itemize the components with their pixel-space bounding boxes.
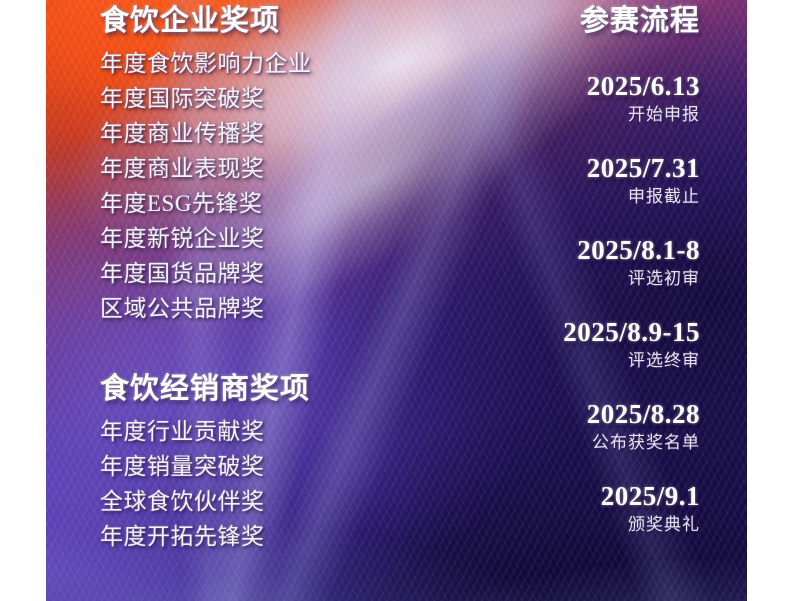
list-item: 年度新锐企业奖: [100, 221, 360, 256]
awards-column: 食饮企业奖项 年度食饮影响力企业 年度国际突破奖 年度商业传播奖 年度商业表现奖…: [100, 0, 360, 554]
timeline-label: 评选初审: [430, 266, 700, 292]
award-list-distributor: 年度行业贡献奖 年度销量突破奖 全球食饮伙伴奖 年度开拓先锋奖: [100, 414, 360, 554]
timeline-label: 评选终审: [430, 348, 700, 374]
timeline-date: 2025/8.1-8: [430, 234, 700, 266]
list-item: 年度国货品牌奖: [100, 256, 360, 291]
list-item: 年度食饮影响力企业: [100, 46, 360, 81]
list-item: 年度国际突破奖: [100, 81, 360, 116]
timeline-date: 2025/6.13: [430, 70, 700, 102]
list-item: 年度行业贡献奖: [100, 414, 360, 449]
timeline-label: 申报截止: [430, 184, 700, 210]
timeline-entry: 2025/9.1 颁奖典礼: [430, 480, 700, 538]
timeline-label: 公布获奖名单: [430, 430, 700, 456]
timeline-entry: 2025/8.28 公布获奖名单: [430, 398, 700, 456]
process-column: 参赛流程 2025/6.13 开始申报 2025/7.31 申报截止 2025/…: [430, 0, 700, 562]
timeline-date: 2025/9.1: [430, 480, 700, 512]
process-timeline: 2025/6.13 开始申报 2025/7.31 申报截止 2025/8.1-8…: [430, 70, 700, 538]
list-item: 年度商业表现奖: [100, 151, 360, 186]
section-heading-enterprise-awards: 食饮企业奖项: [100, 6, 360, 38]
award-list-enterprise: 年度食饮影响力企业 年度国际突破奖 年度商业传播奖 年度商业表现奖 年度ESG先…: [100, 46, 360, 326]
timeline-label: 颁奖典礼: [430, 512, 700, 538]
list-item: 年度开拓先锋奖: [100, 519, 360, 554]
timeline-label: 开始申报: [430, 102, 700, 128]
timeline-date: 2025/8.9-15: [430, 316, 700, 348]
section-heading-distributor-awards: 食饮经销商奖项: [100, 374, 360, 406]
timeline-entry: 2025/8.9-15 评选终审: [430, 316, 700, 374]
timeline-entry: 2025/6.13 开始申报: [430, 70, 700, 128]
list-item: 年度销量突破奖: [100, 449, 360, 484]
list-item: 年度ESG先锋奖: [100, 186, 360, 221]
timeline-date: 2025/7.31: [430, 152, 700, 184]
timeline-entry: 2025/8.1-8 评选初审: [430, 234, 700, 292]
right-white-margin: [747, 0, 800, 601]
awards-poster: 食饮企业奖项 年度食饮影响力企业 年度国际突破奖 年度商业传播奖 年度商业表现奖…: [0, 0, 800, 601]
section-heading-process: 参赛流程: [430, 6, 700, 38]
list-item: 区域公共品牌奖: [100, 291, 360, 326]
timeline-date: 2025/8.28: [430, 398, 700, 430]
list-item: 年度商业传播奖: [100, 116, 360, 151]
timeline-entry: 2025/7.31 申报截止: [430, 152, 700, 210]
left-white-margin: [0, 0, 46, 601]
list-item: 全球食饮伙伴奖: [100, 484, 360, 519]
